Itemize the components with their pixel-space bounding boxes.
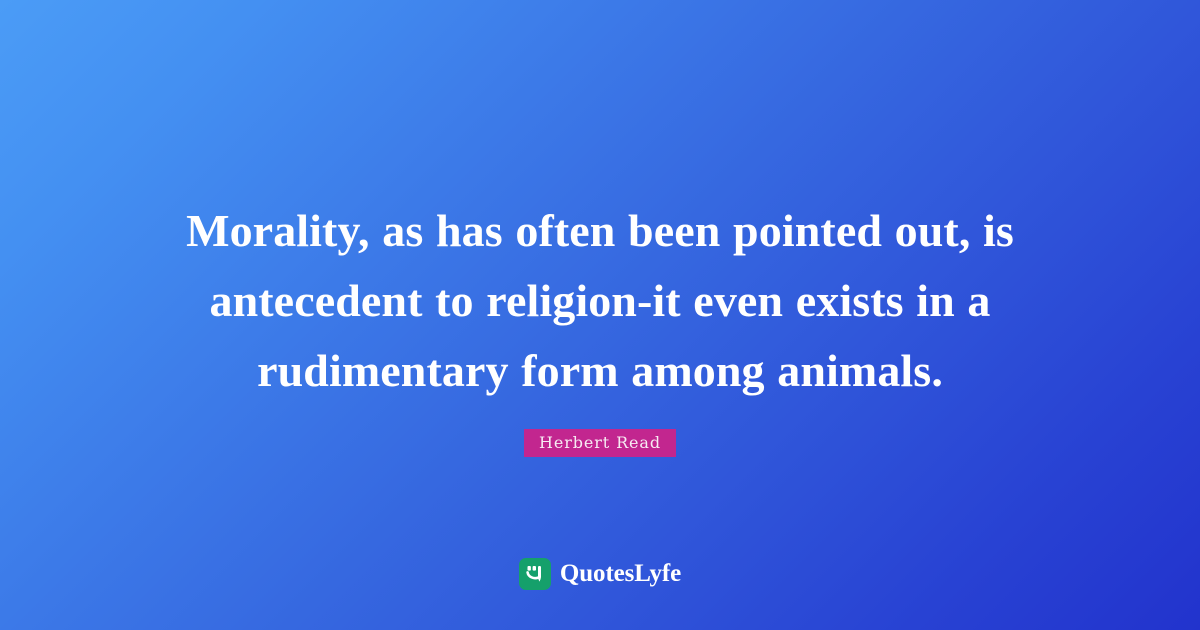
quote-smiley-icon [519, 558, 551, 590]
quote-text: Morality, as has often been pointed out,… [150, 196, 1050, 406]
brand-name: QuotesLyfe [560, 559, 681, 589]
quote-card: Morality, as has often been pointed out,… [0, 0, 1200, 630]
quote-body: Morality, as has often been pointed out,… [0, 196, 1200, 406]
brand-logo[interactable]: QuotesLyfe [0, 558, 1200, 590]
author-attribution: Herbert Read [0, 429, 1200, 457]
author-badge[interactable]: Herbert Read [524, 429, 676, 457]
